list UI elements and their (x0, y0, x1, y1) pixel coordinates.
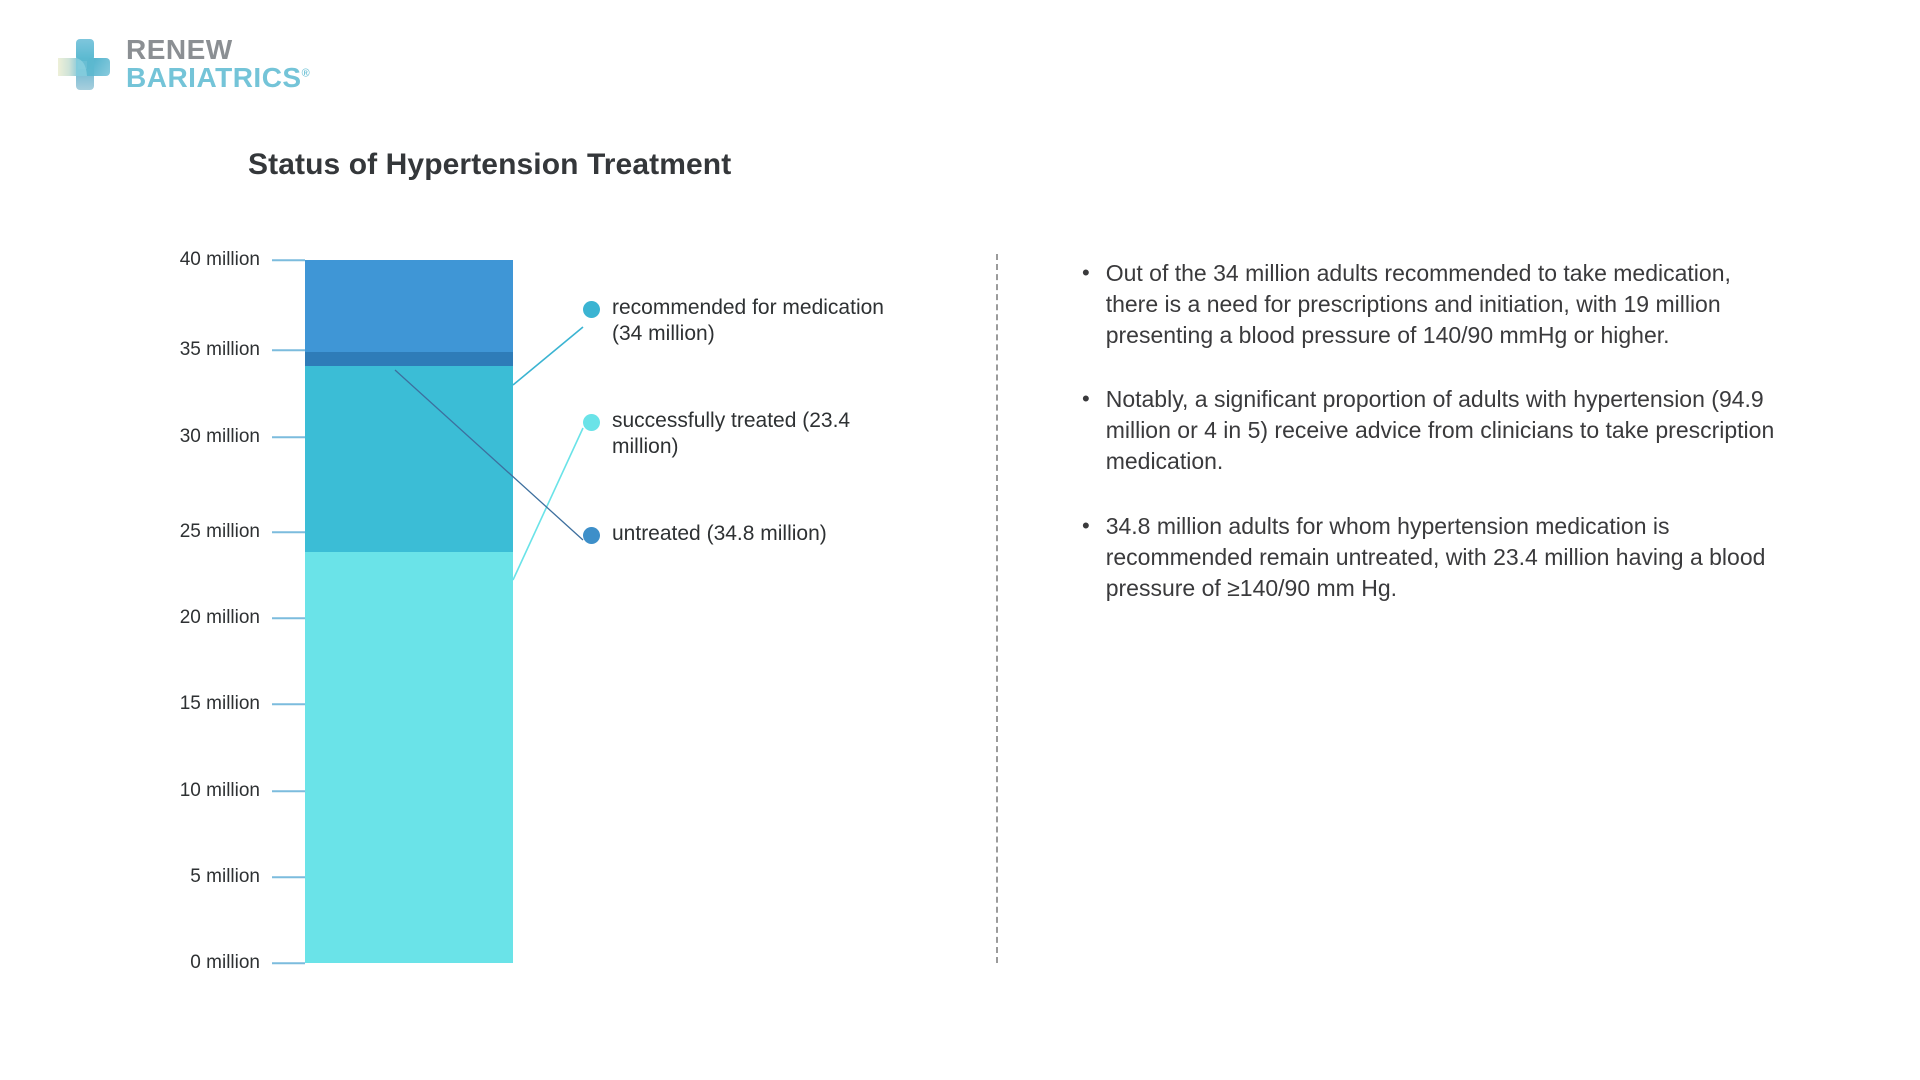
callout-dot-successfully-treated (583, 414, 600, 431)
callout-label-recommended-for-medication: recommended for medication (34 million) (612, 295, 903, 346)
bar-column[interactable] (305, 260, 513, 963)
y-axis-tick-0 (272, 962, 305, 964)
y-axis-tick-35 (272, 349, 305, 351)
y-axis-label-25: 25 million (40, 521, 260, 543)
bar-segment-successfully-treated[interactable] (305, 552, 513, 963)
medical-cross-icon (56, 36, 112, 92)
registered-mark: ® (302, 68, 311, 80)
y-axis-label-15: 15 million (40, 693, 260, 715)
y-axis-tick-20 (272, 617, 305, 619)
callout-untreated[interactable]: untreated (34.8 million) (583, 521, 913, 547)
note-text-2: Notably, a significant proportion of adu… (1106, 384, 1782, 476)
brand-name-line2-text: BARIATRICS (126, 62, 302, 93)
y-axis-label-10: 10 million (40, 780, 260, 802)
bullet-glyph: • (1082, 511, 1090, 603)
y-axis-tick-30 (272, 436, 305, 438)
callout-recommended-for-medication[interactable]: recommended for medication (34 million) (583, 295, 903, 346)
brand-name-line2: BARIATRICS® (126, 64, 310, 92)
notes-list: • Out of the 34 million adults recommend… (1082, 258, 1782, 637)
y-axis-label-40: 40 million (40, 249, 260, 271)
bar-segment-untreated[interactable] (305, 352, 513, 366)
list-item: • 34.8 million adults for whom hypertens… (1082, 511, 1782, 603)
chart-title: Status of Hypertension Treatment (248, 148, 731, 182)
y-axis-label-0: 0 million (40, 952, 260, 974)
y-axis-label-5: 5 million (40, 866, 260, 888)
y-axis-tick-5 (272, 876, 305, 878)
callout-dot-untreated (583, 527, 600, 544)
bar-segment-recommended-for-medication[interactable] (305, 366, 513, 552)
note-text-3: 34.8 million adults for whom hypertensio… (1106, 511, 1782, 603)
y-axis-tick-15 (272, 703, 305, 705)
y-axis-tick-10 (272, 790, 305, 792)
bar-segment-top-band[interactable] (305, 260, 513, 352)
callout-successfully-treated[interactable]: successfully treated (23.4 million) (583, 408, 913, 459)
y-axis-label-30: 30 million (40, 426, 260, 448)
list-item: • Notably, a significant proportion of a… (1082, 384, 1782, 476)
brand-name-line1: RENEW (126, 36, 310, 64)
bullet-glyph: • (1082, 384, 1090, 476)
brand-logo: RENEW BARIATRICS® (56, 36, 310, 92)
bullet-glyph: • (1082, 258, 1090, 350)
y-axis-tick-40 (272, 259, 305, 261)
vertical-dashed-divider (996, 254, 998, 963)
callout-dot-recommended-for-medication (583, 301, 600, 318)
list-item: • Out of the 34 million adults recommend… (1082, 258, 1782, 350)
callout-label-untreated: untreated (34.8 million) (612, 521, 827, 547)
callout-label-successfully-treated: successfully treated (23.4 million) (612, 408, 912, 459)
y-axis-label-35: 35 million (40, 339, 260, 361)
y-axis-tick-25 (272, 531, 305, 533)
y-axis-label-20: 20 million (40, 607, 260, 629)
note-text-1: Out of the 34 million adults recommended… (1106, 258, 1782, 350)
